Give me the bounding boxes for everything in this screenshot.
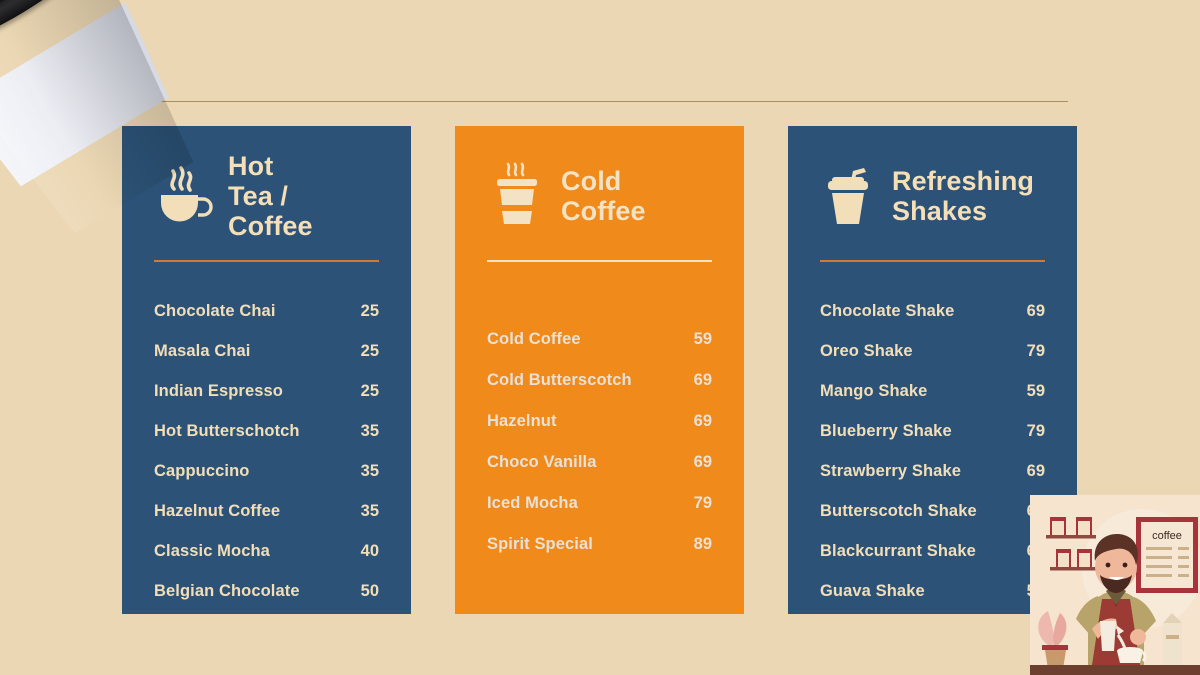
item-name: Belgian Chocolate [154, 582, 300, 601]
item-name: Iced Mocha [487, 494, 578, 513]
menu-item[interactable]: Classic Mocha 40 [154, 542, 379, 561]
item-name: Chocolate Chai [154, 302, 276, 321]
item-name: Classic Mocha [154, 542, 270, 561]
item-price: 40 [361, 542, 379, 561]
item-name: Blueberry Shake [820, 422, 952, 441]
item-price: 79 [1027, 342, 1045, 361]
item-name: Oreo Shake [820, 342, 913, 361]
item-price: 25 [361, 342, 379, 361]
menu-card-cold-coffee: Cold Coffee Cold Coffee 59 Cold Buttersc… [455, 126, 744, 614]
menu-item[interactable]: Cold Butterscotch 69 [487, 371, 712, 390]
item-price: 89 [694, 535, 712, 554]
item-name: Hazelnut [487, 412, 557, 431]
menu-item-list: Cold Coffee 59 Cold Butterscotch 69 Haze… [487, 330, 712, 554]
item-price: 35 [361, 502, 379, 521]
item-price: 25 [361, 382, 379, 401]
card-header: Cold Coffee [487, 148, 712, 244]
menu-item[interactable]: Spirit Special 89 [487, 535, 712, 554]
card-title: Refreshing Shakes [892, 166, 1034, 226]
menu-item[interactable]: Cold Coffee 59 [487, 330, 712, 349]
item-price: 35 [361, 462, 379, 481]
card-divider [487, 260, 712, 262]
menu-item[interactable]: Butterscotch Shake 69 [820, 502, 1045, 521]
item-name: Indian Espresso [154, 382, 283, 401]
item-price: 79 [694, 494, 712, 513]
item-price: 50 [361, 582, 379, 601]
card-header: Refreshing Shakes [820, 148, 1045, 244]
menu-item[interactable]: Chocolate Chai 25 [154, 302, 379, 321]
menu-item[interactable]: Mango Shake 59 [820, 382, 1045, 401]
item-price: 69 [694, 453, 712, 472]
item-name: Mango Shake [820, 382, 927, 401]
header-divider [122, 101, 1068, 102]
card-title: Hot Tea / Coffee [228, 151, 379, 242]
item-price: 79 [1027, 422, 1045, 441]
menu-item[interactable]: Oreo Shake 79 [820, 342, 1045, 361]
item-name: Strawberry Shake [820, 462, 961, 481]
item-name: Butterscotch Shake [820, 502, 977, 521]
item-price: 59 [1027, 382, 1045, 401]
item-name: Guava Shake [820, 582, 925, 601]
menu-item[interactable]: Indian Espresso 25 [154, 382, 379, 401]
item-price: 69 [694, 371, 712, 390]
menu-card-hot-tea-coffee: Hot Tea / Coffee Chocolate Chai 25 Masal… [122, 126, 411, 614]
item-name: Cappuccino [154, 462, 249, 481]
item-name: Blackcurrant Shake [820, 542, 976, 561]
item-name: Chocolate Shake [820, 302, 954, 321]
shake-cup-with-straw-icon [820, 161, 878, 232]
menu-item[interactable]: Blackcurrant Shake 69 [820, 542, 1045, 561]
card-title: Cold Coffee [561, 166, 646, 226]
item-price: 69 [694, 412, 712, 431]
menu-item[interactable]: Masala Chai 25 [154, 342, 379, 361]
menu-item-list: Chocolate Shake 69 Oreo Shake 79 Mango S… [820, 302, 1045, 601]
menu-item-list: Chocolate Chai 25 Masala Chai 25 Indian … [154, 302, 379, 601]
cold-togo-cup-icon [487, 161, 547, 232]
item-price: 25 [361, 302, 379, 321]
barista-pouring-coffee-illustration: coffee [1030, 495, 1200, 675]
menu-item[interactable]: Hot Butterschotch 35 [154, 422, 379, 441]
item-name: Cold Coffee [487, 330, 581, 349]
menu-item[interactable]: Belgian Chocolate 50 [154, 582, 379, 601]
item-price: 69 [1027, 462, 1045, 481]
menu-item[interactable]: Hazelnut Coffee 35 [154, 502, 379, 521]
item-name: Hot Butterschotch [154, 422, 300, 441]
item-name: Spirit Special [487, 535, 593, 554]
menu-item[interactable]: Blueberry Shake 79 [820, 422, 1045, 441]
menu-item[interactable]: Cappuccino 35 [154, 462, 379, 481]
item-price: 69 [1027, 302, 1045, 321]
menu-item[interactable]: Iced Mocha 79 [487, 494, 712, 513]
svg-text:coffee: coffee [1152, 530, 1182, 542]
item-name: Hazelnut Coffee [154, 502, 280, 521]
item-name: Cold Butterscotch [487, 371, 632, 390]
card-divider [154, 260, 379, 262]
menu-item[interactable]: Strawberry Shake 69 [820, 462, 1045, 481]
item-name: Masala Chai [154, 342, 250, 361]
menu-item[interactable]: Guava Shake 59 [820, 582, 1045, 601]
menu-item[interactable]: Hazelnut 69 [487, 412, 712, 431]
item-price: 35 [361, 422, 379, 441]
menu-item[interactable]: Chocolate Shake 69 [820, 302, 1045, 321]
menu-item[interactable]: Choco Vanilla 69 [487, 453, 712, 472]
card-divider [820, 260, 1045, 262]
item-name: Choco Vanilla [487, 453, 597, 472]
item-price: 59 [694, 330, 712, 349]
